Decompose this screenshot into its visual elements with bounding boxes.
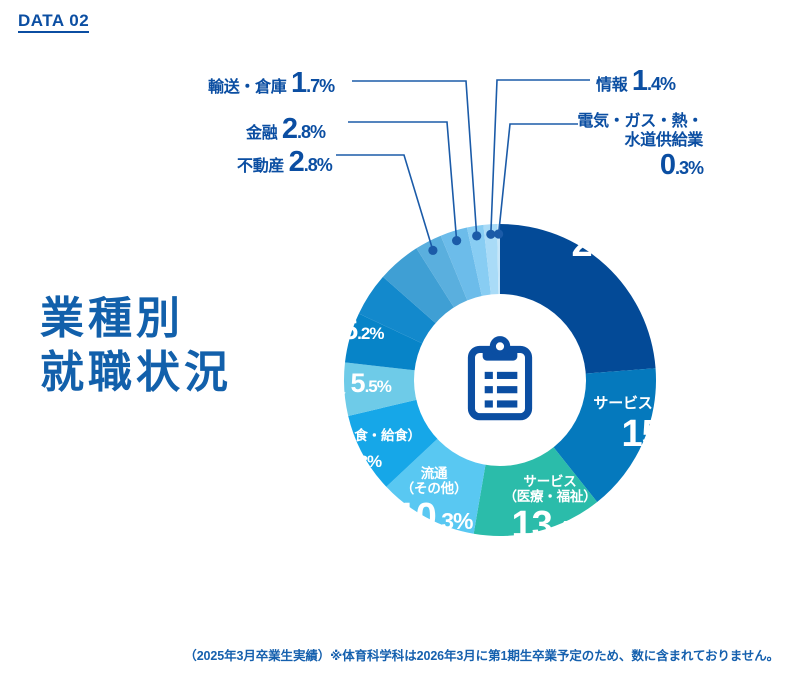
callout-value: 2 <box>282 113 297 145</box>
callout-name-line1: 電気・ガス・熱・ <box>575 112 703 131</box>
leader-line <box>499 124 578 234</box>
leader-dot <box>452 236 461 245</box>
callout-name: 輸送・倉庫 <box>208 79 287 96</box>
clipboard-checklist-icon <box>471 339 528 417</box>
callout-value: 1 <box>291 67 306 99</box>
infographic-canvas: DATA 02 業種別 就職状況 サービス（教育） 23.8% サービス（その他… <box>0 0 793 676</box>
leader-dot <box>472 231 481 240</box>
callout-information: 情報 1.4% <box>596 64 675 99</box>
callout-value: 1 <box>632 65 647 97</box>
callout-transport-warehouse: 輸送・倉庫 1.7% <box>208 66 334 101</box>
footnote: （2025年3月卒業生実績）※体育科学科は2026年3月に第1期生卒業予定のため… <box>0 645 779 664</box>
donut-chart <box>0 0 793 676</box>
leader-dot <box>494 229 503 238</box>
callout-utility: 電気・ガス・熱・ 水道供給業 0.3% <box>575 112 703 183</box>
callout-real-estate: 不動産 2.8% <box>237 145 332 180</box>
leader-line <box>352 81 477 236</box>
leader-line <box>348 122 457 241</box>
callout-value: 0 <box>660 149 675 181</box>
callout-finance: 金融 2.8% <box>246 112 325 147</box>
leader-dot <box>428 246 437 255</box>
leader-line <box>336 155 433 250</box>
callout-name: 不動産 <box>237 158 284 175</box>
callout-value: 2 <box>289 146 304 178</box>
callout-name: 情報 <box>596 77 627 94</box>
callout-name: 金融 <box>246 125 277 142</box>
